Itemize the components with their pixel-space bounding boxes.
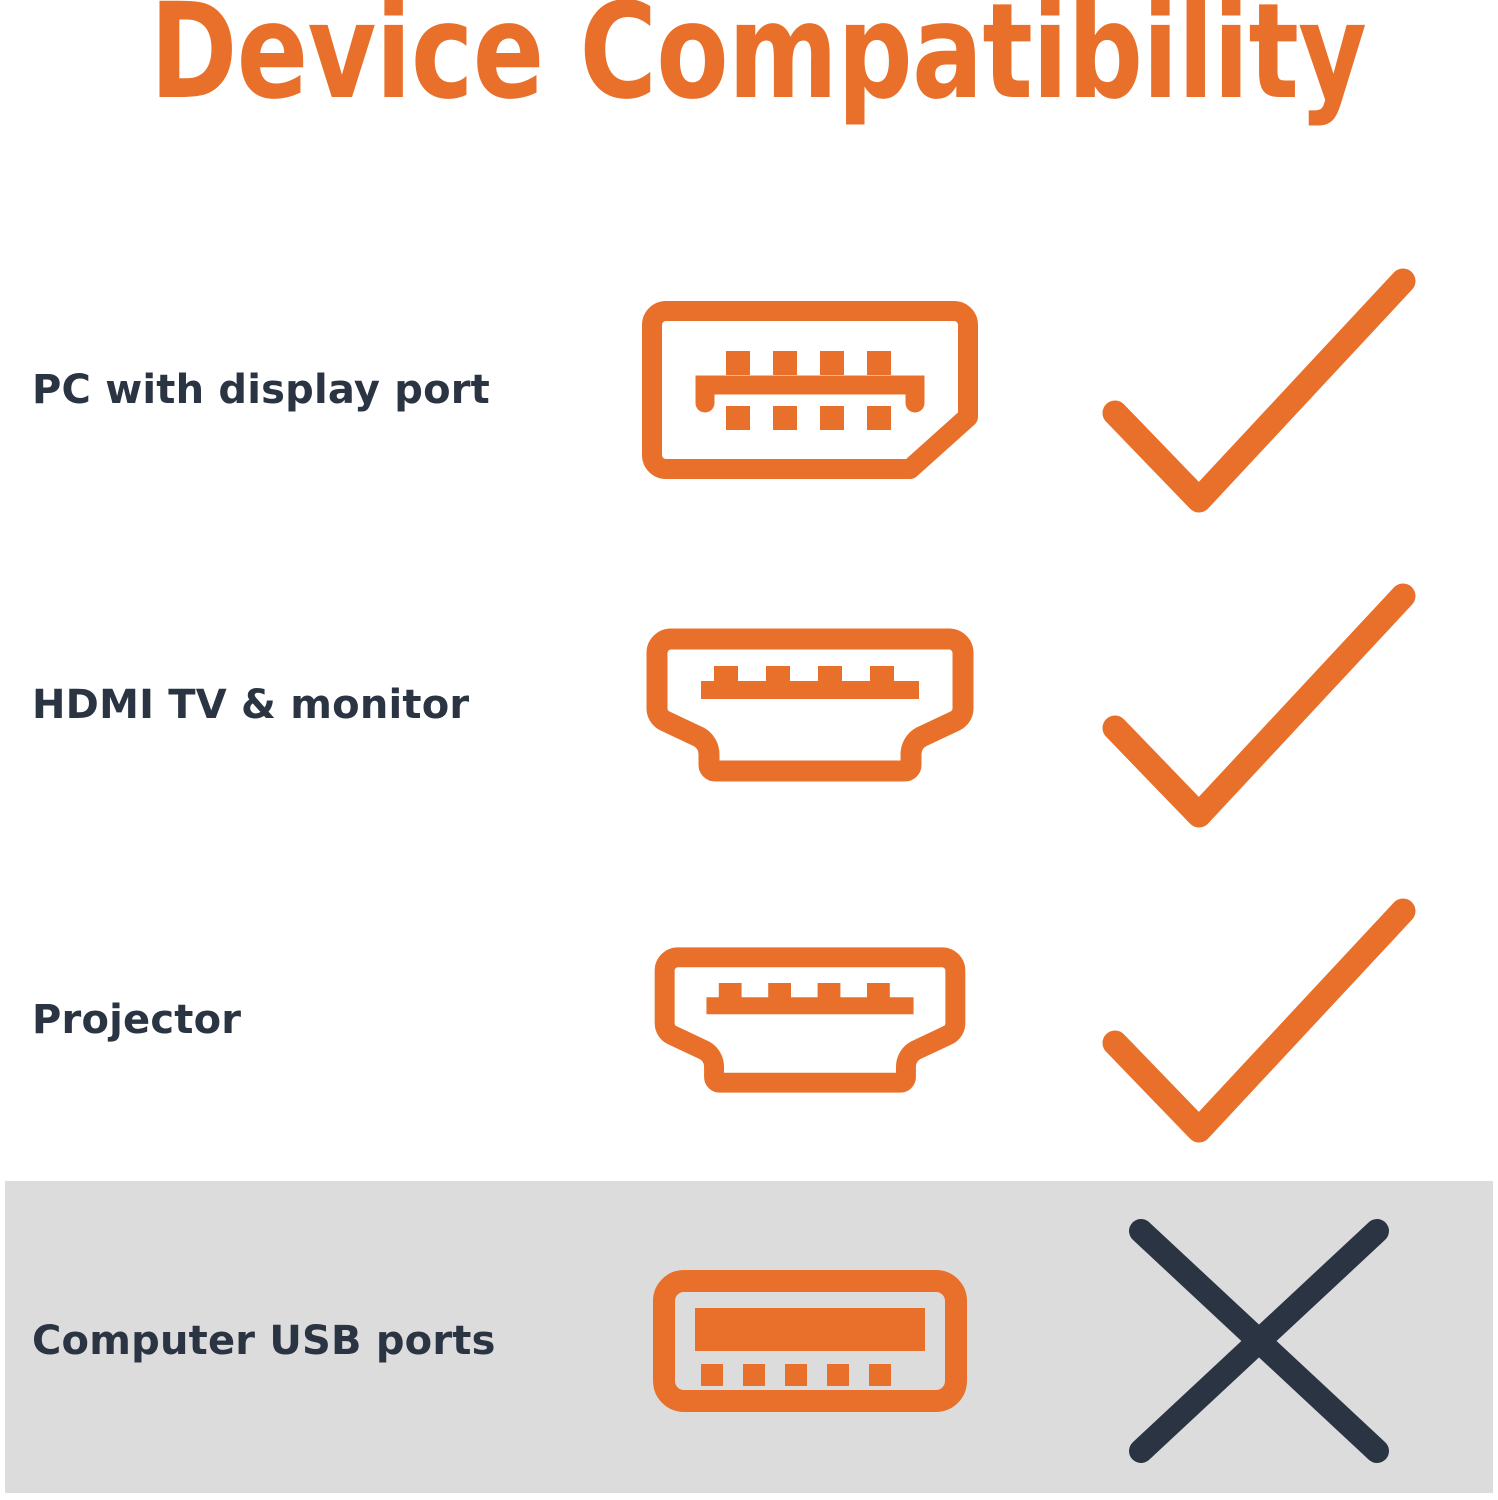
checkmark-icon	[1099, 580, 1419, 830]
displayport-connector-icon	[648, 307, 972, 473]
device-label: PC with display port	[0, 367, 600, 413]
status-mark-cell	[1020, 265, 1498, 515]
device-label: Computer USB ports	[0, 1318, 600, 1364]
compatibility-row: PC with display port	[0, 240, 1498, 540]
connector-icon-cell	[600, 625, 1020, 785]
hdmi-connector-icon	[645, 625, 975, 785]
page-title: Device Compatibility	[150, 0, 1348, 118]
checkmark-icon	[1099, 895, 1419, 1145]
hdmi-connector-icon	[650, 944, 970, 1096]
connector-icon-cell	[600, 1270, 1020, 1412]
connector-icon-cell	[600, 307, 1020, 473]
device-compatibility-infographic: Device Compatibility PC with display por…	[0, 0, 1498, 1500]
device-label: Projector	[0, 997, 600, 1043]
compatibility-row: Computer USB ports	[0, 1181, 1498, 1500]
connector-icon-cell	[600, 944, 1020, 1096]
status-mark-cell	[1020, 580, 1498, 830]
compatibility-row: Projector	[0, 870, 1498, 1170]
usb-a-port-icon	[653, 1270, 967, 1412]
status-mark-cell	[1020, 1215, 1498, 1467]
device-label: HDMI TV & monitor	[0, 682, 600, 728]
checkmark-icon	[1099, 265, 1419, 515]
cross-icon	[1125, 1215, 1393, 1467]
status-mark-cell	[1020, 895, 1498, 1145]
compatibility-row: HDMI TV & monitor	[0, 555, 1498, 855]
